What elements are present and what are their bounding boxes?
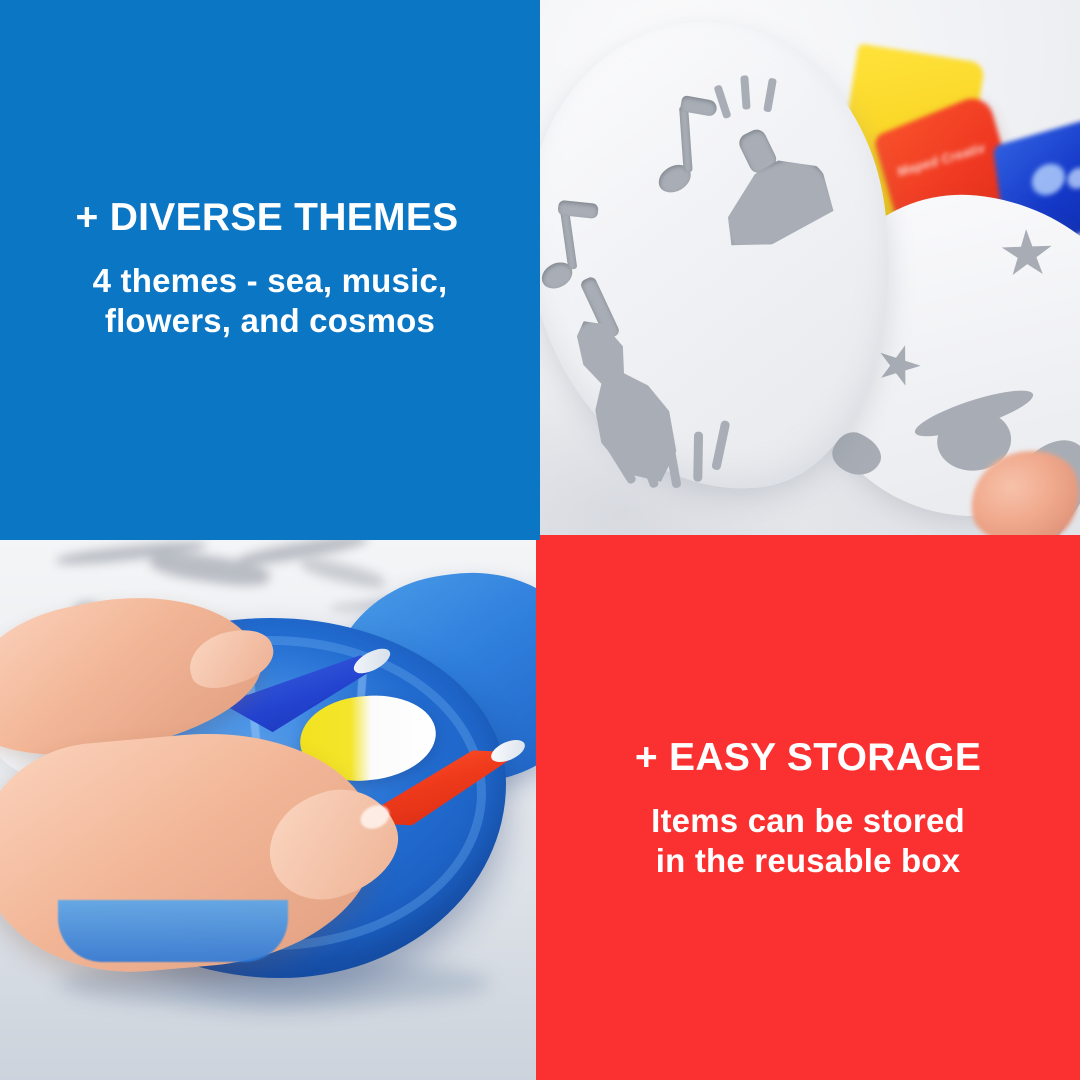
diverse-themes-panel: + DIVERSE THEMES 4 themes - sea, music, … xyxy=(0,0,540,540)
beamed-note-stem-cutout-icon xyxy=(560,209,577,270)
easy-storage-panel: + EASY STORAGE Items can be stored in th… xyxy=(536,540,1080,1080)
quadrant-stencils-photo: Maped Creativ xyxy=(540,0,1080,540)
storage-box-handle xyxy=(58,900,288,962)
eighth-note-stem-cutout-icon xyxy=(679,106,693,172)
quadrant-easy-storage: + EASY STORAGE Items can be stored in th… xyxy=(536,540,1080,1080)
diverse-themes-headline: + DIVERSE THEMES xyxy=(76,198,459,239)
trumpet-cutout-icon xyxy=(709,147,841,258)
storage-box-photo xyxy=(0,540,537,1080)
blue-package-bubble xyxy=(1066,165,1080,191)
sparkle-tick-icon xyxy=(740,75,750,109)
diverse-themes-subline: 4 themes - sea, music, flowers, and cosm… xyxy=(93,261,448,342)
quadrant-diverse-themes: + DIVERSE THEMES 4 themes - sea, music, … xyxy=(0,0,540,540)
star-cutout-icon xyxy=(1000,228,1054,280)
sparkle-tick-icon xyxy=(763,78,777,113)
blue-package-bubble xyxy=(1030,160,1067,199)
easy-storage-headline: + EASY STORAGE xyxy=(635,738,981,779)
quadrant-storage-photo xyxy=(0,540,537,1080)
easy-storage-subline: Items can be stored in the reusable box xyxy=(651,801,965,882)
sun-ray-cutout-icon xyxy=(693,432,703,482)
red-package-brand-label: Maped Creativ xyxy=(897,141,987,180)
product-feature-collage: + DIVERSE THEMES 4 themes - sea, music, … xyxy=(0,0,1080,1080)
stencils-photo: Maped Creativ xyxy=(540,0,1080,540)
sun-ray-cutout-icon xyxy=(711,420,730,471)
sparkle-tick-icon xyxy=(713,84,731,119)
background-stencil-blur xyxy=(299,554,387,592)
